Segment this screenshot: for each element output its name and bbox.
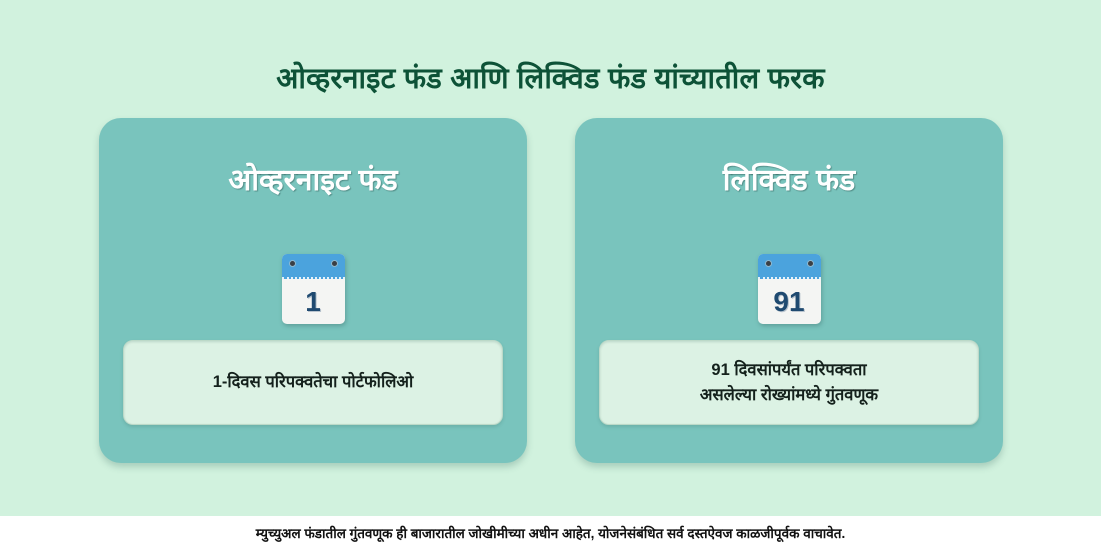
detail-text-overnight: 1-दिवस परिपक्वतेचा पोर्टफोलिओ <box>203 370 424 395</box>
card-title-overnight: ओव्हरनाइट फंड <box>99 163 527 199</box>
cards-row: ओव्हरनाइट फंड 1 1-दिवस परिपक्वतेचा पोर्ट… <box>0 118 1101 466</box>
card-overnight-fund: ओव्हरनाइट फंड 1 1-दिवस परिपक्वतेचा पोर्ट… <box>99 118 527 463</box>
calendar-day-number: 91 <box>758 280 821 324</box>
calendar-ring-left <box>289 260 296 267</box>
detail-box-liquid: 91 दिवसांपर्यंत परिपक्वता असलेल्या रोख्य… <box>599 340 979 425</box>
calendar-wrap-overnight: 1 <box>99 254 527 324</box>
footer-disclaimer: म्युच्युअल फंडातील गुंतवणूक ही बाजारातील… <box>256 524 845 542</box>
page-title: ओव्हरनाइट फंड आणि लिक्विड फंड यांच्यातील… <box>0 62 1101 97</box>
detail-text-liquid-line1: 91 दिवसांपर्यंत परिपक्वता <box>700 358 878 383</box>
infographic-root: ओव्हरनाइट फंड आणि लिक्विड फंड यांच्यातील… <box>0 0 1101 550</box>
calendar-icon: 1 <box>282 254 345 324</box>
calendar-icon: 91 <box>758 254 821 324</box>
calendar-ring-right <box>331 260 338 267</box>
detail-box-overnight: 1-दिवस परिपक्वतेचा पोर्टफोलिओ <box>123 340 503 425</box>
calendar-day-number: 1 <box>282 280 345 324</box>
calendar-header <box>758 254 821 279</box>
card-title-liquid: लिक्विड फंड <box>575 163 1003 199</box>
calendar-wrap-liquid: 91 <box>575 254 1003 324</box>
calendar-ring-left <box>765 260 772 267</box>
detail-text-liquid: 91 दिवसांपर्यंत परिपक्वता असलेल्या रोख्य… <box>690 358 888 408</box>
calendar-ring-right <box>807 260 814 267</box>
detail-text-liquid-line2: असलेल्या रोख्यांमध्ये गुंतवणूक <box>700 383 878 408</box>
calendar-header <box>282 254 345 279</box>
card-liquid-fund: लिक्विड फंड 91 91 दिवसांपर्यंत परिपक्वता… <box>575 118 1003 463</box>
footer-band: म्युच्युअल फंडातील गुंतवणूक ही बाजारातील… <box>0 516 1101 550</box>
